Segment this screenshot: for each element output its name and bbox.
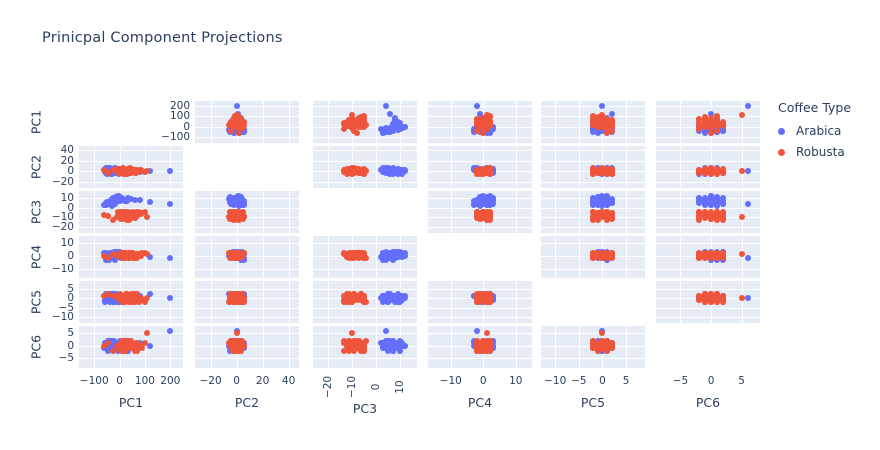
data-point-robusta	[144, 330, 150, 336]
gridline-horizontal	[313, 243, 417, 244]
gridline-vertical	[516, 326, 517, 368]
gridline-horizontal	[313, 333, 417, 334]
data-point-robusta	[484, 112, 490, 118]
splom-cell-pc2-pc4[interactable]	[428, 146, 532, 188]
data-point-robusta	[696, 217, 702, 223]
splom-cell-pc4-pc1[interactable]	[79, 236, 183, 278]
x-tick-label: 20	[256, 375, 269, 387]
data-point-robusta	[702, 250, 708, 256]
gridline-vertical	[451, 326, 452, 368]
gridline-vertical	[211, 326, 212, 368]
gridline-vertical	[328, 326, 329, 368]
data-point-robusta	[480, 130, 486, 136]
data-point-robusta	[604, 343, 610, 349]
column-axis-label-pc1: PC1	[119, 395, 143, 410]
data-point-arabica	[604, 198, 610, 204]
splom-cell-pc6-pc2[interactable]	[195, 326, 299, 368]
y-tick-label: 40	[14, 144, 74, 156]
data-point-robusta	[354, 130, 360, 136]
data-point-robusta	[702, 168, 708, 174]
gridline-horizontal	[195, 116, 299, 117]
y-tick-label: 200	[130, 100, 190, 112]
x-tick-label: 200	[160, 375, 180, 387]
data-point-arabica	[167, 168, 173, 174]
data-point-arabica	[397, 253, 403, 259]
y-tick-label: −5	[14, 352, 74, 364]
data-point-arabica	[390, 343, 396, 349]
data-point-arabica	[745, 168, 751, 174]
data-point-robusta	[714, 120, 720, 126]
x-tick-label: −10	[440, 375, 462, 387]
data-point-robusta	[354, 167, 360, 173]
data-point-robusta	[739, 214, 745, 220]
x-tick-label: 40	[282, 375, 295, 387]
gridline-horizontal	[541, 137, 645, 138]
data-point-robusta	[708, 253, 714, 259]
data-point-robusta	[739, 295, 745, 301]
data-point-robusta	[604, 253, 610, 259]
gridline-horizontal	[428, 106, 532, 107]
data-point-arabica	[105, 200, 111, 206]
splom-cell-pc5-pc1[interactable]	[79, 281, 183, 323]
column-axis-label-pc6: PC6	[696, 395, 720, 410]
gridline-horizontal	[195, 256, 299, 257]
gridline-horizontal	[313, 308, 417, 309]
data-point-robusta	[110, 217, 116, 223]
splom-cell-pc5-pc6[interactable]	[656, 281, 760, 323]
gridline-horizontal	[656, 137, 760, 138]
gridline-horizontal	[195, 137, 299, 138]
splom-cell-pc3-pc6[interactable]	[656, 191, 760, 233]
data-point-arabica	[397, 348, 403, 354]
y-tick-label: 10	[14, 192, 74, 204]
gridline-horizontal	[541, 182, 645, 183]
gridline-horizontal	[195, 198, 299, 199]
data-point-robusta	[604, 130, 610, 136]
data-point-robusta	[702, 297, 708, 303]
data-point-arabica	[745, 201, 751, 207]
data-point-robusta	[595, 345, 601, 351]
data-point-arabica	[390, 166, 396, 172]
gridline-horizontal	[313, 182, 417, 183]
gridline-horizontal	[541, 150, 645, 151]
column-axis-label-pc3: PC3	[353, 401, 377, 416]
gridline-horizontal	[541, 333, 645, 334]
row-axis-label-pc6: PC6	[29, 335, 44, 359]
row-axis-label-pc3: PC3	[29, 200, 44, 224]
x-tick-label: 10	[394, 380, 406, 393]
gridline-horizontal	[313, 269, 417, 270]
gridline-horizontal	[656, 150, 760, 151]
gridline-horizontal	[313, 137, 417, 138]
x-tick-label: −20	[200, 375, 222, 387]
splom-cell-pc2-pc3[interactable]	[313, 146, 417, 188]
gridline-horizontal	[428, 317, 532, 318]
data-point-arabica	[167, 201, 173, 207]
data-point-arabica	[696, 195, 702, 201]
gridline-horizontal	[428, 227, 532, 228]
gridline-horizontal	[656, 208, 760, 209]
gridline-horizontal	[656, 227, 760, 228]
x-tick-label: 100	[135, 375, 155, 387]
splom-cell-pc1-pc4[interactable]	[428, 101, 532, 143]
data-point-robusta	[110, 348, 116, 354]
x-tick-label: −10	[544, 375, 566, 387]
legend-items: ArabicaRobusta	[778, 124, 851, 159]
gridline-vertical	[289, 326, 290, 368]
y-tick-label: −100	[130, 131, 190, 143]
gridline-vertical	[94, 326, 95, 368]
data-point-arabica	[234, 201, 240, 207]
row-axis-label-pc4: PC4	[29, 245, 44, 269]
row-axis-label-pc1: PC1	[29, 110, 44, 134]
data-point-robusta	[708, 115, 714, 121]
gridline-horizontal	[313, 289, 417, 290]
data-point-arabica	[390, 250, 396, 256]
gridline-horizontal	[428, 333, 532, 334]
y-tick-label: 5	[14, 283, 74, 295]
data-point-robusta	[720, 253, 726, 259]
data-point-arabica	[720, 199, 726, 205]
legend-item-arabica[interactable]: Arabica	[778, 124, 851, 138]
column-axis-label-pc5: PC5	[581, 395, 605, 410]
data-point-robusta	[599, 330, 605, 336]
gridline-horizontal	[541, 106, 645, 107]
legend-title: Coffee Type	[778, 100, 851, 115]
legend-swatch-icon	[778, 149, 785, 156]
gridline-vertical	[579, 326, 580, 368]
splom-cell-pc1-pc2[interactable]	[195, 101, 299, 143]
data-point-robusta	[708, 130, 714, 136]
gridline-horizontal	[195, 333, 299, 334]
gridline-horizontal	[313, 317, 417, 318]
gridline-horizontal	[195, 317, 299, 318]
data-point-robusta	[144, 295, 150, 301]
x-tick-label: 5	[623, 375, 630, 387]
legend-swatch-icon	[778, 128, 785, 135]
gridline-horizontal	[541, 269, 645, 270]
data-point-robusta	[125, 253, 131, 259]
splom-cell-pc4-pc2[interactable]	[195, 236, 299, 278]
x-tick-label: 0	[708, 375, 715, 387]
data-point-robusta	[487, 345, 493, 351]
column-axis-label-pc2: PC2	[235, 395, 259, 410]
data-point-arabica	[745, 295, 751, 301]
y-tick-label: 5	[14, 327, 74, 339]
data-point-robusta	[714, 299, 720, 305]
data-point-robusta	[595, 124, 601, 130]
splom-cell-pc1-pc6[interactable]	[656, 101, 760, 143]
gridline-horizontal	[428, 358, 532, 359]
y-tick-label: 20	[14, 155, 74, 167]
gridline-horizontal	[195, 217, 299, 218]
splom-cell-pc5-pc4[interactable]	[428, 281, 532, 323]
gridline-horizontal	[656, 161, 760, 162]
splom-cell-pc5-pc3[interactable]	[313, 281, 417, 323]
gridline-horizontal	[428, 182, 532, 183]
splom-cell-pc2-pc6[interactable]	[656, 146, 760, 188]
row-axis-label-pc2: PC2	[29, 155, 44, 179]
gridline-horizontal	[79, 333, 183, 334]
gridline-horizontal	[195, 358, 299, 359]
x-tick-label: 0	[480, 375, 487, 387]
data-point-robusta	[480, 343, 486, 349]
gridline-vertical	[263, 326, 264, 368]
legend-label: Arabica	[796, 124, 841, 138]
y-tick-label: 0	[14, 340, 74, 352]
legend-label: Robusta	[796, 145, 845, 159]
gridline-horizontal	[541, 161, 645, 162]
gridline-horizontal	[79, 308, 183, 309]
y-tick-label: 0	[14, 250, 74, 262]
data-point-robusta	[354, 253, 360, 259]
data-point-robusta	[484, 330, 490, 336]
data-point-arabica	[167, 295, 173, 301]
data-point-arabica	[234, 103, 240, 109]
gridline-horizontal	[79, 269, 183, 270]
gridline-horizontal	[195, 308, 299, 309]
gridline-horizontal	[79, 358, 183, 359]
data-point-robusta	[236, 343, 242, 349]
x-tick-label: −5	[571, 375, 586, 387]
gridline-vertical	[376, 326, 377, 368]
y-tick-label: 0	[14, 165, 74, 177]
data-point-arabica	[714, 200, 720, 206]
data-point-robusta	[341, 126, 347, 132]
splom-cell-pc4-pc6[interactable]	[656, 236, 760, 278]
data-point-robusta	[696, 126, 702, 132]
gridline-horizontal	[79, 150, 183, 151]
gridline-horizontal	[79, 182, 183, 183]
data-point-arabica	[383, 103, 389, 109]
data-point-robusta	[358, 124, 364, 130]
data-point-arabica	[383, 328, 389, 334]
x-tick-label: −20	[322, 376, 334, 398]
gridline-horizontal	[313, 161, 417, 162]
gridline-horizontal	[195, 208, 299, 209]
data-point-arabica	[474, 201, 480, 207]
splom-cell-pc3-pc1[interactable]	[79, 191, 183, 233]
gridline-horizontal	[541, 358, 645, 359]
data-point-arabica	[708, 198, 714, 204]
data-point-arabica	[474, 103, 480, 109]
data-point-robusta	[144, 214, 150, 220]
gridline-horizontal	[195, 289, 299, 290]
splom-cell-pc2-pc1[interactable]	[79, 146, 183, 188]
legend: Coffee Type ArabicaRobusta	[778, 100, 851, 166]
gridline-horizontal	[428, 137, 532, 138]
gridline-horizontal	[79, 317, 183, 318]
column-axis-label-pc4: PC4	[468, 395, 492, 410]
data-point-robusta	[739, 168, 745, 174]
data-point-arabica	[383, 255, 389, 261]
gridline-horizontal	[656, 182, 760, 183]
data-point-arabica	[599, 103, 605, 109]
data-point-robusta	[125, 166, 131, 172]
splom-cell-pc6-pc3[interactable]	[313, 326, 417, 368]
data-point-robusta	[702, 124, 708, 130]
data-point-robusta	[236, 130, 242, 136]
data-point-robusta	[236, 253, 242, 259]
splom-cell-pc3-pc4[interactable]	[428, 191, 532, 233]
data-point-robusta	[117, 170, 123, 176]
splom-cell-pc4-pc3[interactable]	[313, 236, 417, 278]
data-point-robusta	[354, 293, 360, 299]
x-tick-label: −10	[346, 376, 358, 398]
data-point-robusta	[234, 112, 240, 118]
data-point-arabica	[147, 199, 153, 205]
y-tick-label: −10	[14, 263, 74, 275]
gridline-horizontal	[313, 106, 417, 107]
x-tick-label: 0	[370, 384, 382, 391]
gridline-horizontal	[195, 243, 299, 244]
data-point-arabica	[745, 255, 751, 261]
splom-cell-pc5-pc2[interactable]	[195, 281, 299, 323]
gridline-horizontal	[313, 358, 417, 359]
gridline-horizontal	[195, 269, 299, 270]
page-title: Prinicpal Component Projections	[42, 30, 283, 46]
gridline-horizontal	[428, 289, 532, 290]
data-point-robusta	[234, 330, 240, 336]
splom-cell-pc6-pc4[interactable]	[428, 326, 532, 368]
gridline-horizontal	[656, 317, 760, 318]
gridline-horizontal	[656, 289, 760, 290]
splom-cell-pc3-pc5[interactable]	[541, 191, 645, 233]
y-tick-label: 10	[14, 237, 74, 249]
data-point-arabica	[383, 168, 389, 174]
data-point-robusta	[117, 297, 123, 303]
gridline-horizontal	[428, 150, 532, 151]
gridline-horizontal	[79, 161, 183, 162]
data-point-robusta	[354, 343, 360, 349]
gridline-horizontal	[428, 161, 532, 162]
y-tick-label: −20	[14, 176, 74, 188]
data-point-arabica	[137, 197, 143, 203]
data-point-arabica	[167, 255, 173, 261]
data-point-arabica	[745, 103, 751, 109]
gridline-horizontal	[313, 150, 417, 151]
gridline-horizontal	[195, 106, 299, 107]
x-tick-label: −5	[673, 375, 688, 387]
gridline-horizontal	[656, 243, 760, 244]
gridline-horizontal	[195, 227, 299, 228]
gridline-horizontal	[79, 243, 183, 244]
x-tick-label: 0	[116, 375, 123, 387]
data-point-arabica	[702, 196, 708, 202]
x-tick-label: −100	[80, 375, 109, 387]
gridline-horizontal	[656, 308, 760, 309]
gridline-vertical	[555, 326, 556, 368]
y-tick-label: 0	[130, 121, 190, 133]
data-point-robusta	[739, 112, 745, 118]
splom-cell-pc1-pc5[interactable]	[541, 101, 645, 143]
splom-cell-pc1-pc3[interactable]	[313, 101, 417, 143]
legend-item-robusta[interactable]: Robusta	[778, 145, 851, 159]
splom-cell-pc6-pc1[interactable]	[79, 326, 183, 368]
gridline-horizontal	[79, 208, 183, 209]
gridline-horizontal	[541, 227, 645, 228]
data-point-arabica	[240, 198, 246, 204]
data-point-robusta	[349, 330, 355, 336]
splom-cell-pc3-pc2[interactable]	[195, 191, 299, 233]
data-point-robusta	[696, 167, 702, 173]
y-tick-label: 100	[130, 110, 190, 122]
gridline-horizontal	[656, 269, 760, 270]
x-tick-label: 0	[599, 375, 606, 387]
data-point-robusta	[125, 338, 131, 344]
x-tick-label: 10	[509, 375, 522, 387]
splom-cell-pc4-pc5[interactable]	[541, 236, 645, 278]
splom-cell-pc2-pc5[interactable]	[541, 146, 645, 188]
splom-cell-pc6-pc5[interactable]	[541, 326, 645, 368]
data-point-arabica	[115, 198, 121, 204]
gridline-horizontal	[79, 289, 183, 290]
gridline-horizontal	[195, 127, 299, 128]
data-point-arabica	[383, 295, 389, 301]
x-tick-label: 5	[738, 375, 745, 387]
data-point-robusta	[474, 128, 480, 134]
gridline-horizontal	[79, 227, 183, 228]
gridline-vertical	[626, 326, 627, 368]
data-point-arabica	[487, 198, 493, 204]
x-tick-label: 0	[233, 375, 240, 387]
gridline-horizontal	[428, 308, 532, 309]
gridline-horizontal	[541, 243, 645, 244]
data-point-arabica	[474, 328, 480, 334]
splom-figure: Prinicpal Component Projections −1000100…	[0, 0, 880, 450]
row-axis-label-pc5: PC5	[29, 290, 44, 314]
